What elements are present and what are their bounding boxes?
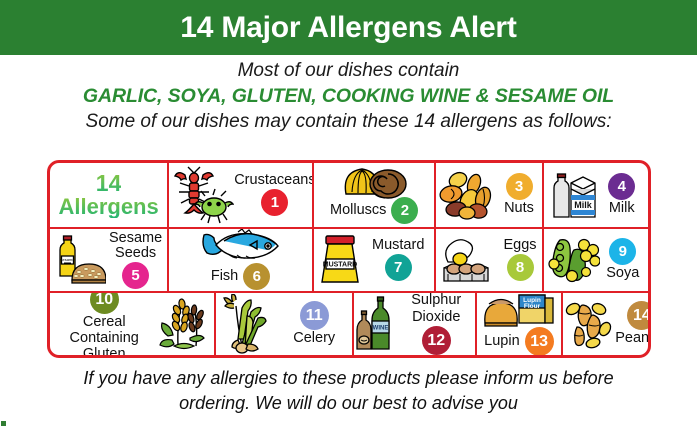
lupin-flour-bread-icon: Lupin Flour <box>481 293 557 328</box>
allergen-label: Peanuts <box>615 331 648 346</box>
footer-line-1: If you have any allergies to these produ… <box>0 366 697 391</box>
lobster-crab-icon <box>172 165 234 225</box>
header-banner: 14 Major Allergens Alert <box>0 0 697 55</box>
corner-artifact <box>1 421 6 426</box>
allergen-badge-1: 1 <box>261 189 288 216</box>
footer-line-2: ordering. We will do our best to advise … <box>0 391 697 416</box>
allergen-badge-11: 11 <box>300 301 329 330</box>
allergen-badge-12: 12 <box>422 326 451 354</box>
allergen-cell-fish[interactable]: Fish 6 <box>167 229 312 291</box>
peanuts-icon <box>565 299 615 349</box>
table-title-number: 14 <box>96 172 122 195</box>
allergen-badge-2: 2 <box>391 197 418 224</box>
subtitle-line-3: Some of our dishes may contain these 14 … <box>0 109 697 135</box>
svg-text:WINE: WINE <box>373 325 389 331</box>
allergen-label: Crustaceans <box>234 173 312 188</box>
allergen-cell-milk[interactable]: Milk 4 Milk <box>542 163 648 227</box>
allergen-badge-10: 10 <box>90 293 119 315</box>
table-title-cell: 14 Allergens <box>50 163 167 227</box>
subtitle-block: Most of our dishes contain GARLIC, SOYA,… <box>0 58 697 135</box>
table-row: 10 Cereal Containing Gluten <box>50 291 648 355</box>
allergen-badge-4: 4 <box>608 173 635 200</box>
allergen-alert-poster: 14 Major Allergens Alert Most of our dis… <box>0 0 697 429</box>
wine-bottles-icon: WINE <box>356 295 400 353</box>
allergen-badge-7: 7 <box>385 254 412 281</box>
allergen-cell-crustaceans[interactable]: Crustaceans 1 <box>167 163 312 227</box>
mixed-nuts-icon <box>438 169 498 221</box>
allergen-label: Molluscs <box>330 203 386 218</box>
allergen-badge-5: 5 <box>122 262 149 289</box>
allergen-label: Lupin <box>484 334 519 349</box>
subtitle-line-2-highlight: GARLIC, SOYA, GLUTEN, COOKING WINE & SES… <box>0 83 697 109</box>
allergen-badge-13: 13 <box>525 327 554 354</box>
allergen-badge-3: 3 <box>506 173 533 200</box>
allergen-cell-celery[interactable]: 11 Celery <box>214 293 352 355</box>
allergen-label: Sesame Seeds <box>106 231 165 261</box>
footer-note: If you have any allergies to these produ… <box>0 366 697 416</box>
svg-text:MUSTARD: MUSTARD <box>323 261 357 268</box>
table-row: sesame <box>50 227 648 291</box>
allergen-label: Celery <box>293 331 335 346</box>
allergen-cell-nuts[interactable]: 3 Nuts <box>434 163 541 227</box>
milk-bottle-carton-icon: Milk <box>546 168 598 222</box>
allergen-cell-mustard[interactable]: MUSTARD Mustard 7 <box>312 229 435 291</box>
allergen-cell-lupin[interactable]: Lupin Flour Lupin 13 <box>475 293 562 355</box>
allergen-badge-14: 14 <box>627 301 648 330</box>
celery-stalks-icon <box>218 294 278 354</box>
allergen-cell-sulphur-dioxide[interactable]: WINE Sulphur Dioxide 12 <box>352 293 475 355</box>
svg-text:sesame: sesame <box>60 257 75 262</box>
soya-beans-icon <box>546 234 600 286</box>
allergen-label: Sulphur Dioxide <box>400 293 473 327</box>
allergen-cell-cereal-gluten[interactable]: 10 Cereal Containing Gluten <box>50 293 214 355</box>
sesame-oil-bread-icon: sesame <box>52 232 106 288</box>
allergen-cell-eggs[interactable]: Eggs 8 <box>434 229 541 291</box>
allergen-badge-8: 8 <box>507 254 534 281</box>
svg-text:Flour: Flour <box>524 303 541 310</box>
svg-text:Milk: Milk <box>574 200 592 210</box>
allergen-label: Eggs <box>503 238 536 253</box>
allergen-badge-9: 9 <box>609 238 636 265</box>
allergen-label: Soya <box>606 266 639 281</box>
allergen-cell-molluscs[interactable]: Molluscs 2 <box>312 163 435 227</box>
page-title: 14 Major Allergens Alert <box>180 11 516 45</box>
allergen-cell-peanuts[interactable]: 14 Peanuts <box>561 293 648 355</box>
allergen-label: Milk <box>609 201 635 216</box>
egg-carton-icon <box>438 234 500 286</box>
subtitle-line-1: Most of our dishes contain <box>0 58 697 83</box>
allergen-badge-6: 6 <box>243 263 270 290</box>
table-row: 14 Allergens <box>50 163 648 227</box>
allergen-label: Nuts <box>504 201 534 216</box>
allergen-cell-sesame-seeds[interactable]: sesame <box>50 229 167 291</box>
fish-icon <box>198 229 284 263</box>
allergen-label: Cereal Containing Gluten <box>52 314 156 354</box>
allergen-table: 14 Allergens <box>47 160 651 358</box>
allergen-cell-soya[interactable]: 9 Soya <box>542 229 648 291</box>
wheat-sheaf-icon <box>156 294 212 354</box>
shell-snail-icon <box>338 166 410 199</box>
mustard-jar-icon: MUSTARD <box>317 232 365 288</box>
allergen-label: Mustard <box>372 238 424 253</box>
table-title-word: Allergens <box>58 196 158 218</box>
allergen-label: Fish <box>211 269 238 284</box>
